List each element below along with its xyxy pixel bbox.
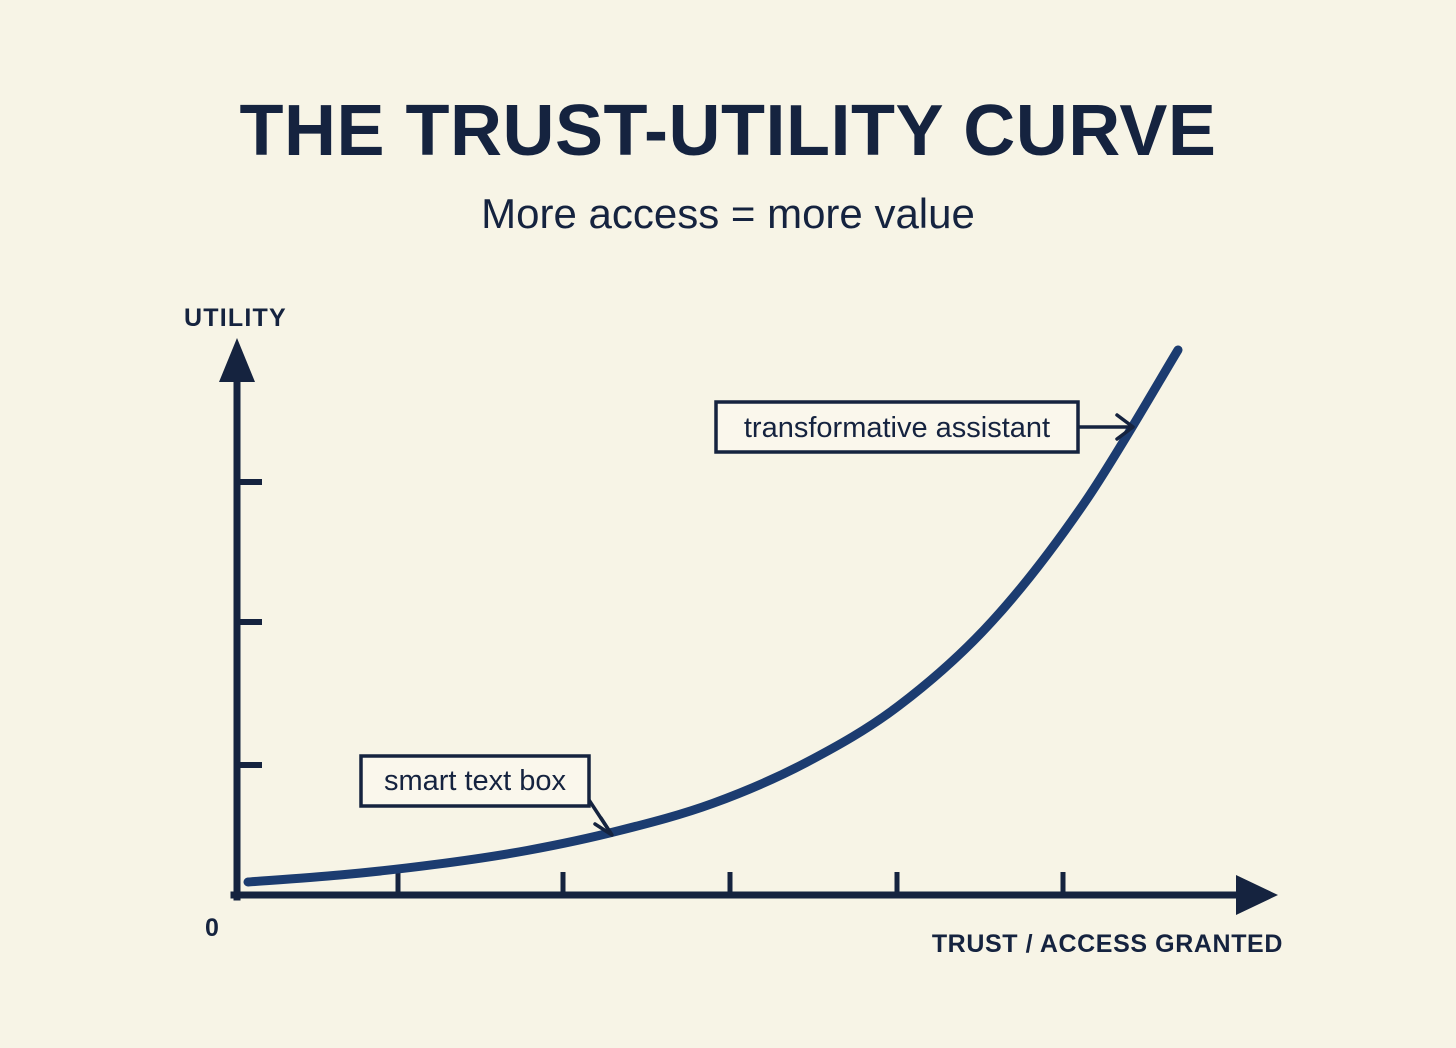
y-axis-label: UTILITY: [184, 304, 287, 332]
origin-label: 0: [205, 914, 219, 942]
trust-utility-figure: THE TRUST-UTILITY CURVE More access = mo…: [0, 0, 1456, 1048]
chart-canvas: THE TRUST-UTILITY CURVE More access = mo…: [0, 0, 1456, 1048]
page-subtitle: More access = more value: [481, 190, 975, 237]
annotation-transformative-assistant[interactable]: transformative assistant: [716, 402, 1133, 452]
annotation-label: smart text box: [384, 765, 567, 797]
page-title: THE TRUST-UTILITY CURVE: [240, 91, 1217, 171]
annotation-label: transformative assistant: [744, 412, 1050, 444]
x-axis-label: TRUST / ACCESS GRANTED: [932, 930, 1283, 958]
